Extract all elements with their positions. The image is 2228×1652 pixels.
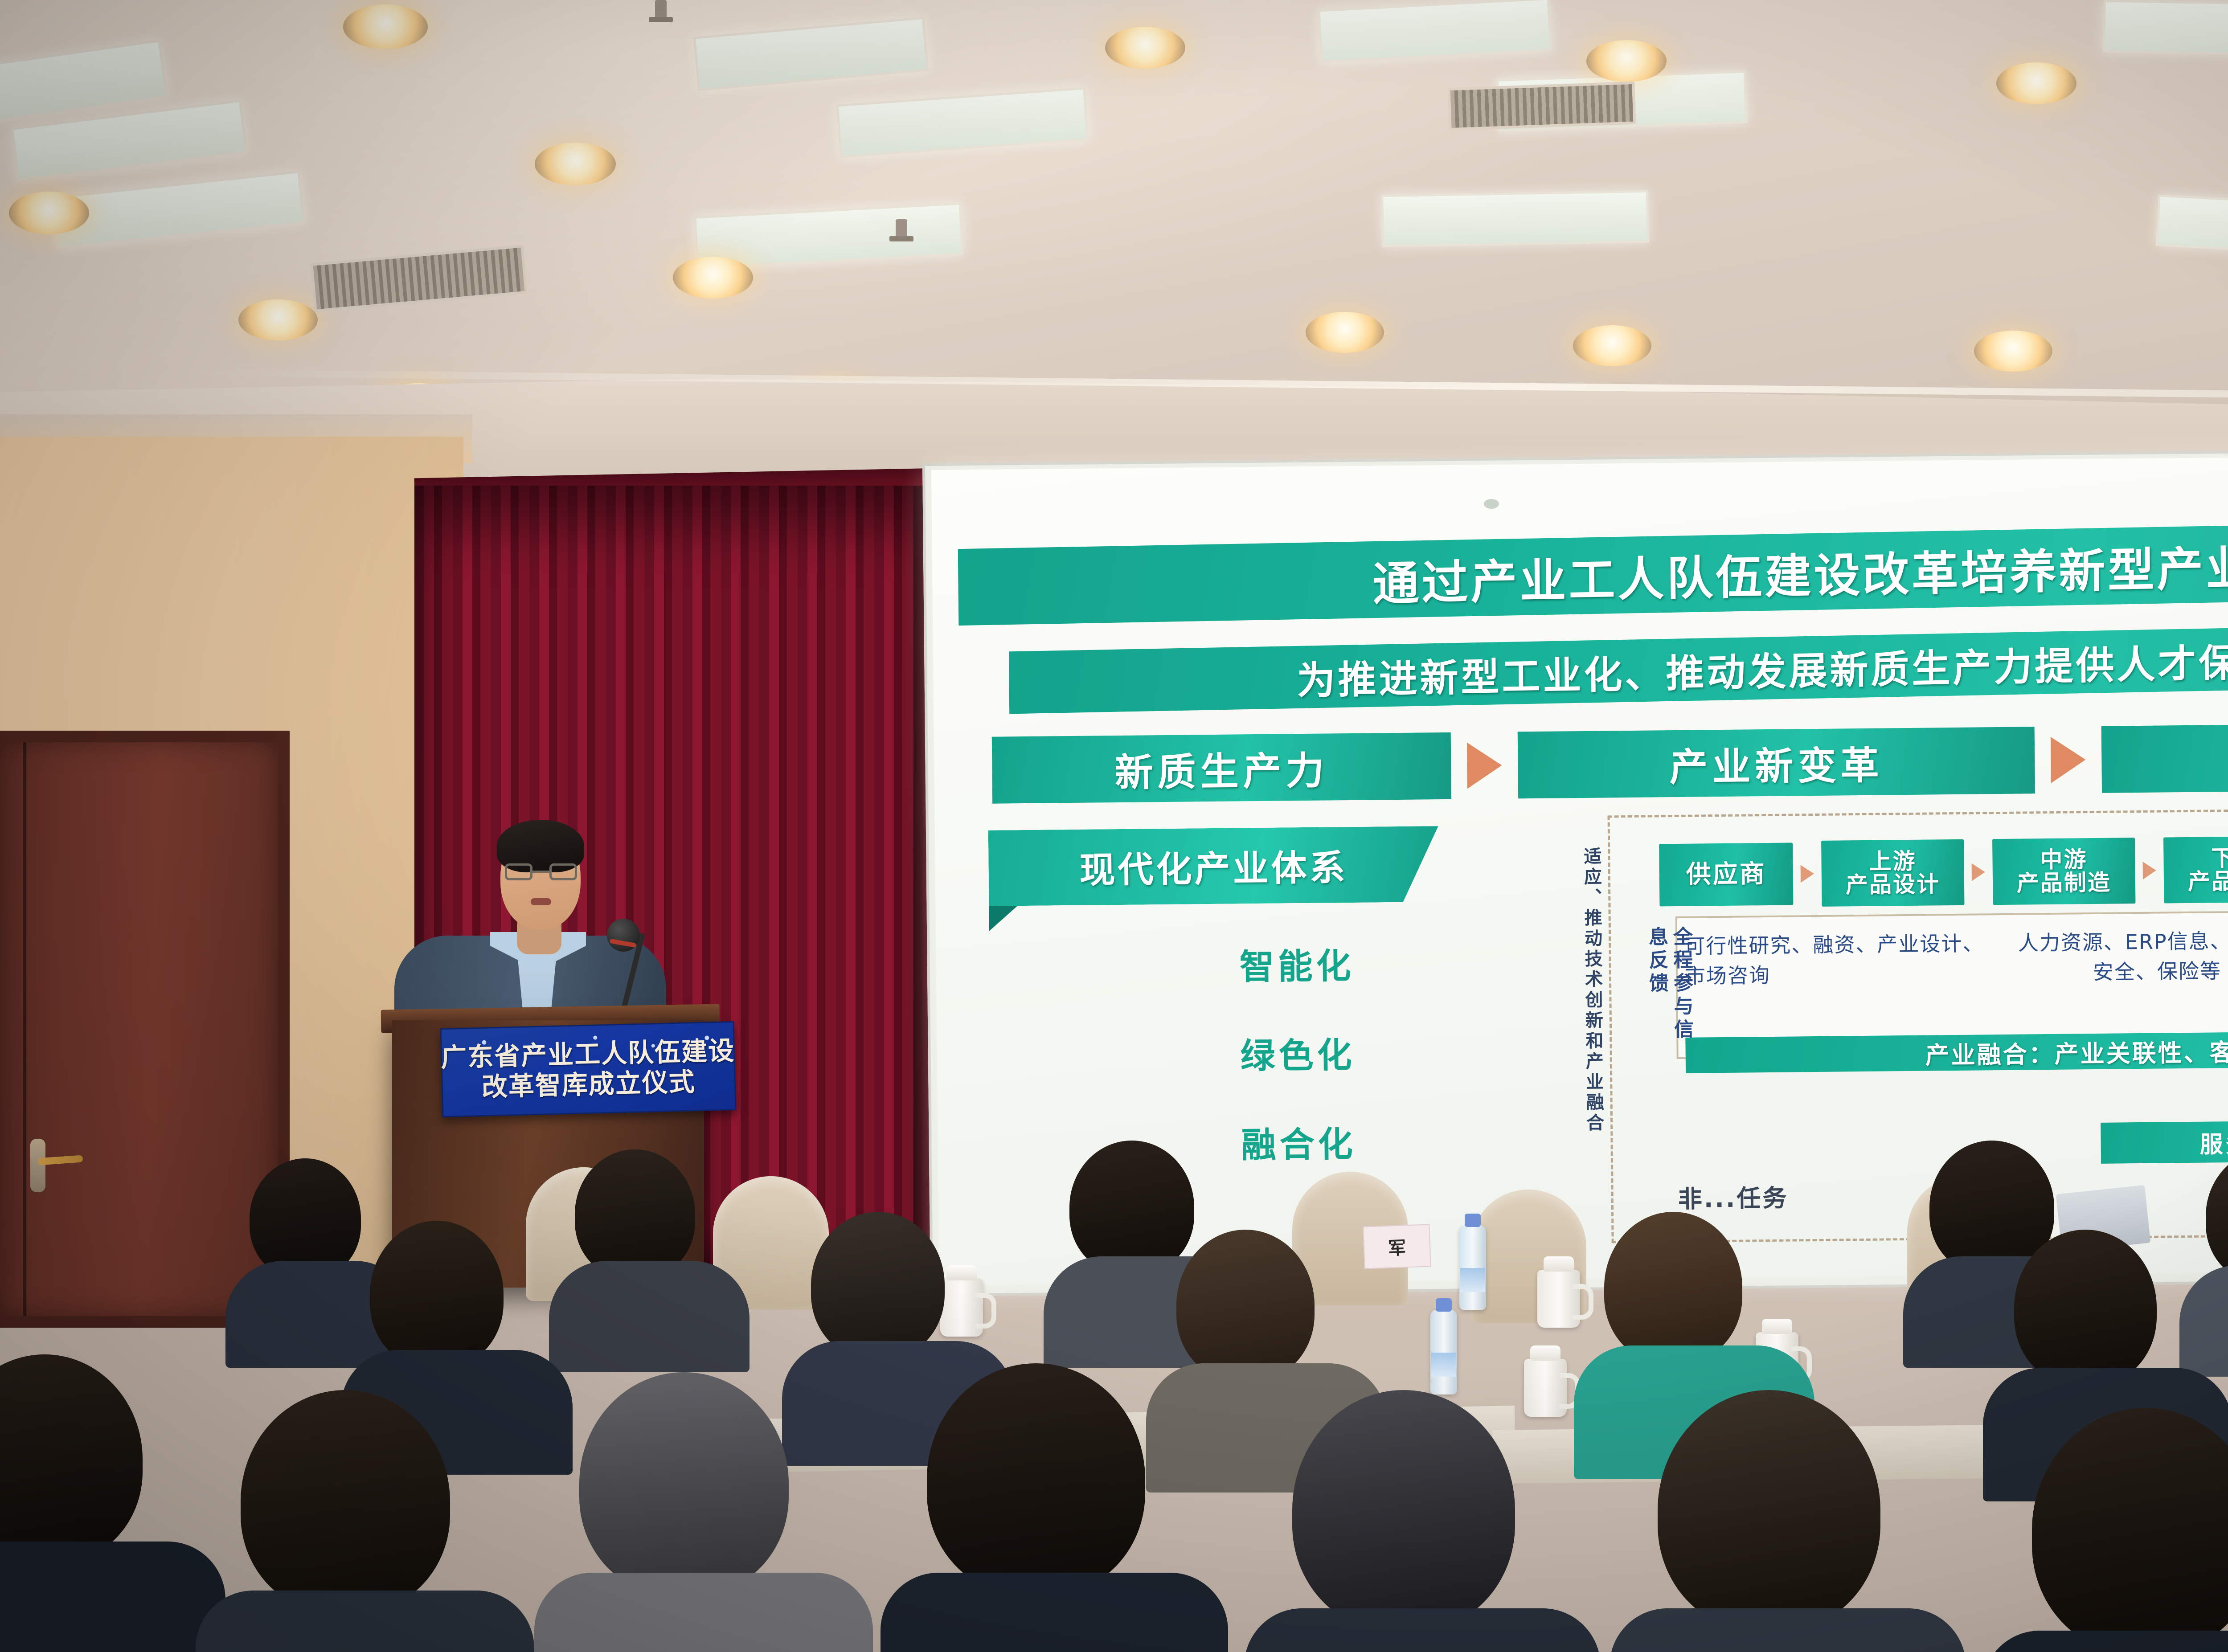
detail-midstream: 人力资源、ERP信息、环保、安全、保险等 [2014,926,2228,1018]
shoulders [881,1573,1228,1652]
sprinkler-icon [896,219,907,240]
downlight [1573,325,1651,366]
arrow-right-icon [1793,865,1822,883]
downlight [1306,312,1384,353]
audience-member [0,1354,178,1652]
downlight [9,192,89,234]
air-vent [1447,82,1636,131]
downlight [1586,40,1667,82]
water-bottle [1459,1225,1486,1310]
audience-member [2032,1408,2228,1652]
audience-member [2206,1149,2228,1345]
audience-area: 军 [0,1141,2228,1652]
chain-box-supplier: 供应商 [1659,842,1793,906]
head [1292,1390,1515,1631]
sprinkler-icon [655,0,667,20]
detail-upstream: 可行性研究、融资、产业设计、市场咨询 [1684,928,1988,1021]
tea-mug [1537,1270,1580,1328]
arrow-right-icon [2035,726,2102,793]
chain-label: 产品销售 [2188,869,2228,894]
head [370,1221,504,1368]
downlight [673,257,753,299]
head [1658,1390,1880,1631]
modern-industry-banner: 现代化产业体系 [988,826,1439,906]
water-bottle [1430,1310,1457,1394]
head [811,1212,945,1359]
downlight [1974,331,2052,372]
arrow-right-icon [1451,732,1518,799]
head [579,1372,789,1595]
chain-box-midstream: 中游 产品制造 [1992,838,2135,905]
audience-member [579,1372,829,1652]
podium-sign-line2: 改革智库成立仪式 [481,1067,696,1102]
audience-member [575,1149,717,1341]
shoulders [1610,1608,1966,1652]
list-item: 智能化 [1127,937,1466,990]
chain-label: 产品制造 [2017,871,2111,896]
head [2206,1149,2228,1283]
downlight [1996,62,2076,104]
head [1176,1230,1315,1381]
audience-member [241,1390,490,1652]
shoulders [1982,1631,2228,1652]
chain-label: 产品设计 [1846,872,1940,897]
banner-fold-icon [989,906,1018,931]
head [241,1390,450,1613]
downlight [238,299,318,340]
chip-new-productivity: 新质生产力 [992,732,1451,804]
head [1604,1212,1742,1363]
head [575,1149,695,1279]
chain-box-upstream: 上游 产品设计 [1821,839,1964,907]
chip-new-workers: 新型产业工人 [2101,721,2228,793]
vertical-feedback-left: 全程参与信息反馈 [1644,926,1695,1056]
arrow-right-icon [2135,861,2164,879]
detail-text-row: 可行性研究、融资、产业设计、市场咨询 人力资源、ERP信息、环保、安全、保险等 … [1684,922,2228,1020]
shoulders [0,1542,225,1652]
chain-row: 供应商 上游 产品设计 中游 产品制造 下游 产品销售 [1659,831,2228,908]
chain-label: 供应商 [1686,861,1767,888]
projector-artifact [1484,499,1499,509]
ceiling-panel-light [2103,0,2228,57]
ceiling-panel-light [1381,190,1649,247]
audience-member [250,1158,383,1345]
shoulders [534,1573,873,1652]
podium-sign: 广东省产业工人队伍建设 改革智库成立仪式 [440,1021,737,1117]
slide-title: 通过产业工人队伍建设改革培养新型产业工人 [958,516,2228,626]
speaker-mouth [531,898,551,905]
shoulders [1244,1608,1601,1652]
chain-label: 中游 [2040,848,2087,872]
audience-member [1292,1390,1560,1652]
chain-box-downstream: 下游 产品销售 [2163,836,2228,903]
glasses-icon [505,863,577,881]
shoulders [549,1261,749,1372]
concept-chip-row: 新质生产力 产业新变革 新型产业工人 [992,720,2228,804]
name-card: 军 [1363,1224,1431,1269]
head [0,1354,143,1564]
chain-label: 下游 [2211,846,2228,870]
head [2014,1230,2157,1386]
slide-subtitle: 为推进新型工业化、推动发展新质生产力提供人才保障和技能支撑 [1009,617,2228,714]
chain-label: 上游 [1869,849,1916,873]
downlight [343,4,428,49]
downlight [1105,27,1185,69]
downlight [535,143,616,185]
head [2032,1408,2228,1652]
audience-member [927,1363,1185,1652]
shoulders [196,1591,534,1652]
chip-industry-reform: 产业新变革 [1518,727,2035,798]
arrow-right-icon [1964,863,1993,881]
conference-photo: 通过产业工人队伍建设改革培养新型产业工人 为推进新型工业化、推动发展新质生产力提… [0,0,2228,1652]
list-item: 绿色化 [1128,1026,1467,1080]
vertical-label-left: 适应、推动技术创新和产业融合 [1582,847,1603,1186]
head [927,1363,1145,1595]
head [1069,1141,1194,1274]
audience-member [1658,1390,1925,1652]
